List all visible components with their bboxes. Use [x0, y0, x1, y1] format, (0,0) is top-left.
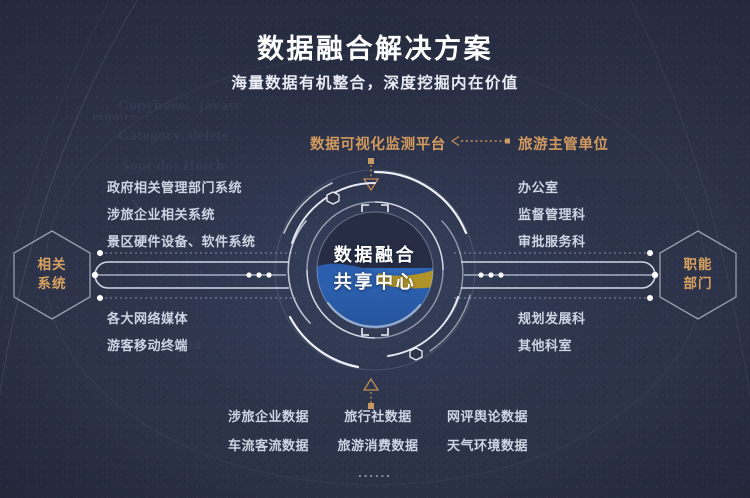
- hub-label-line1: 数据融合: [334, 242, 416, 269]
- left-sources-bottom-list: 各大网络媒体 游客移动终端: [107, 305, 188, 359]
- list-item[interactable]: 网评舆论数据: [434, 406, 528, 435]
- list-item[interactable]: 政府相关管理部门系统: [107, 174, 256, 201]
- watermark-text: $out do: Hotch: [122, 158, 225, 175]
- watermark-text: Copyboro.. javasc: [118, 98, 242, 115]
- right-bus: [454, 250, 658, 301]
- hub-label-line2: 共享中心: [334, 269, 416, 296]
- list-item[interactable]: 旅游消费数据: [330, 435, 426, 464]
- list-item[interactable]: 其他科室: [518, 332, 586, 359]
- list-item[interactable]: 景区硬件设备、软件系统: [107, 228, 256, 255]
- list-item[interactable]: 涉旅企业数据: [228, 406, 322, 435]
- badge-left-line2: 系统: [38, 274, 67, 293]
- data-fusion-hub[interactable]: 数据融合 共享中心: [270, 165, 480, 375]
- bottom-data-labels: 涉旅企业数据 旅行社数据 网评舆论数据 车流客流数据 旅游消费数据 天气环境数据: [228, 406, 528, 464]
- hub-label: 数据融合 共享中心: [270, 165, 480, 375]
- data-label-row: 涉旅企业数据 旅行社数据 网评舆论数据: [228, 406, 528, 435]
- right-departments-bottom-list: 规划发展科 其他科室: [518, 305, 586, 359]
- list-item[interactable]: 天气环境数据: [434, 435, 528, 464]
- badge-right-line1: 职能: [684, 255, 713, 274]
- list-item[interactable]: 审批服务科: [518, 228, 586, 255]
- watermark-text: Category..delete: [118, 128, 229, 145]
- flow-arrow-left: [452, 137, 510, 146]
- badge-right-line2: 部门: [684, 274, 713, 293]
- right-departments-top-list: 办公室 监督管理科 审批服务科: [518, 174, 586, 255]
- badge-functional-departments[interactable]: 职能 部门: [659, 230, 737, 318]
- badge-left-line1: 相关: [38, 255, 67, 274]
- page-title: 数据融合解决方案: [0, 27, 750, 66]
- left-sources-top-list: 政府相关管理部门系统 涉旅企业相关系统 景区硬件设备、软件系统: [107, 174, 256, 255]
- label-visualization-platform[interactable]: 数据可视化监测平台: [310, 133, 446, 154]
- label-tourism-authority[interactable]: 旅游主管单位: [518, 133, 609, 154]
- list-item[interactable]: 旅行社数据: [330, 406, 426, 435]
- list-item[interactable]: 监督管理科: [518, 201, 586, 228]
- badge-related-systems[interactable]: 相关 系统: [13, 230, 91, 318]
- page-subtitle: 海量数据有机整合，深度挖掘内在价值: [0, 71, 750, 93]
- list-item[interactable]: 涉旅企业相关系统: [107, 201, 256, 228]
- watermark-text: require: [92, 108, 136, 124]
- left-bus: [92, 250, 296, 301]
- infographic-canvas: Copyboro.. javasc Category..delete $out …: [0, 0, 750, 498]
- data-label-row: 车流客流数据 旅游消费数据 天气环境数据: [228, 435, 528, 464]
- bottom-up-connector: [364, 379, 378, 409]
- list-item[interactable]: 游客移动终端: [107, 332, 188, 359]
- list-item[interactable]: 办公室: [518, 174, 586, 201]
- list-item[interactable]: 车流客流数据: [228, 435, 322, 464]
- list-item[interactable]: 各大网络媒体: [107, 305, 188, 332]
- list-item[interactable]: 规划发展科: [518, 305, 586, 332]
- ellipsis-indicator: ......: [0, 465, 750, 480]
